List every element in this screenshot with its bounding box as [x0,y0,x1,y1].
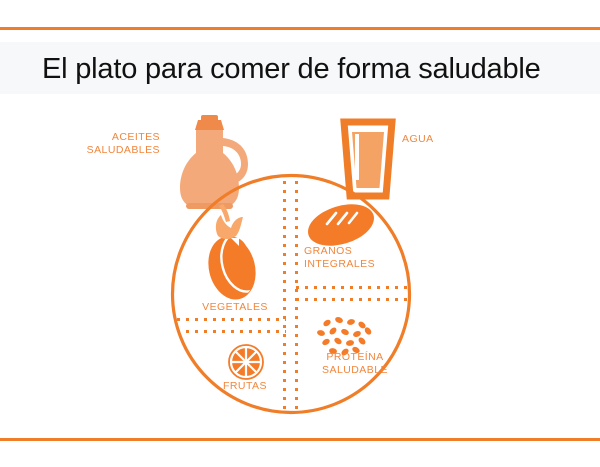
label-frutas: FRUTAS [204,380,286,393]
label-granos-integrales: GRANOS INTEGRALES [304,245,414,270]
bottom-accent-rule [0,438,600,441]
label-agua: AGUA [402,133,482,146]
plate-graphic [0,0,600,467]
orange-slice-icon [227,343,265,381]
water-glass-icon [344,122,392,196]
label-vegetales: VEGETALES [181,301,289,314]
infographic-canvas: El plato para comer de forma saludable [0,0,600,467]
plate-circle-outline [173,176,410,413]
label-aceites-saludables: ACEITES SALUDABLES [48,131,160,156]
label-proteina-saludable: PROTEÍNA SALUDABLE [300,351,410,376]
